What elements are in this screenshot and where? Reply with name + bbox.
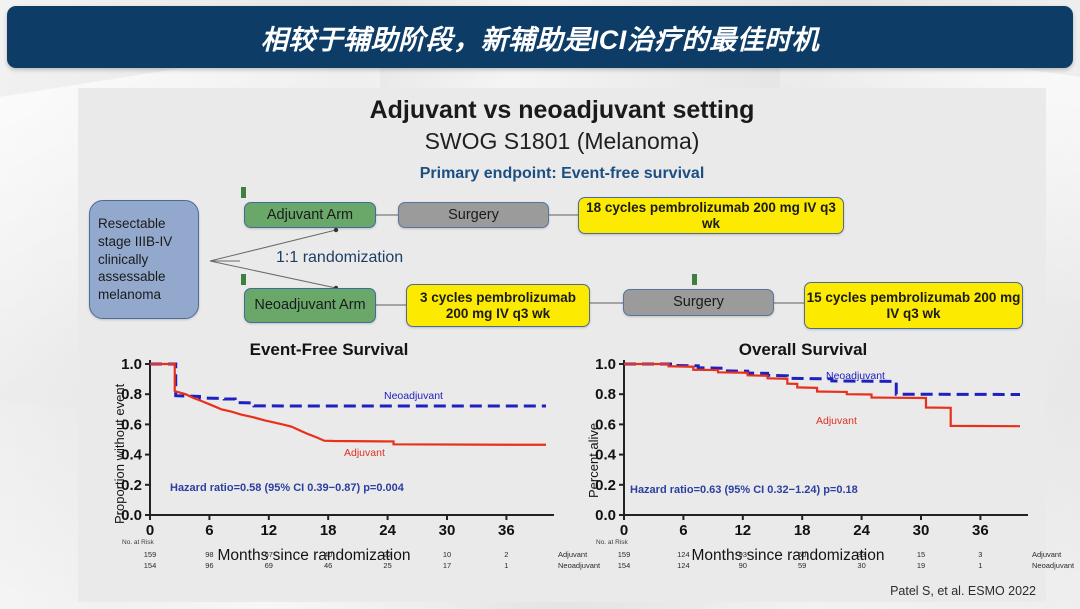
risk-table-cell: 22	[376, 550, 400, 559]
adjuvant-pembro-box: 18 cycles pembrolizumab 200 mg IV q3 wk	[578, 197, 844, 234]
figure-subtitle: SWOG S1801 (Melanoma)	[78, 128, 1046, 155]
svg-text:0.8: 0.8	[595, 386, 616, 403]
risk-table-cell: 69	[257, 561, 281, 570]
svg-text:0.0: 0.0	[595, 507, 616, 524]
primary-endpoint-label: Primary endpoint: Event-free survival	[78, 165, 1046, 183]
svg-text:6: 6	[679, 522, 687, 539]
curve-label-neoadjuvant: Neoadjuvant	[384, 390, 443, 402]
risk-table-cell: 67	[257, 550, 281, 559]
risk-table-cell: 60	[790, 550, 814, 559]
risk-table-cell: 19	[909, 561, 933, 570]
risk-table-cell: 90	[731, 561, 755, 570]
risk-table-cell: 30	[850, 561, 874, 570]
neoadjuvant-pembro-post-box: 15 cycles pembrolizumab 200 mg IV q3 wk	[804, 282, 1023, 329]
y-axis-label: Percent alive	[586, 423, 601, 498]
chart-event-free-survival: Event-Free Survival 0.00.20.40.60.81.006…	[94, 338, 564, 596]
risk-table-cell: 46	[316, 561, 340, 570]
page-title: 相较于辅助阶段，新辅助是ICI治疗的最佳时机	[261, 18, 820, 57]
timepoint-marker-icon	[241, 274, 246, 285]
hazard-ratio-annotation: Hazard ratio=0.63 (95% CI 0.32−1.24) p=0…	[630, 484, 858, 496]
curve-label-adjuvant: Adjuvant	[344, 447, 385, 459]
slide-title-banner: 相较于辅助阶段，新辅助是ICI治疗的最佳时机	[7, 6, 1073, 68]
svg-text:1.0: 1.0	[121, 356, 142, 373]
risk-table-cell: 15	[909, 550, 933, 559]
figure-title: Adjuvant vs neoadjuvant setting	[78, 96, 1046, 125]
content-card: Adjuvant vs neoadjuvant setting SWOG S18…	[78, 88, 1046, 602]
hazard-ratio-annotation: Hazard ratio=0.58 (95% CI 0.39−0.87) p=0…	[170, 482, 404, 494]
risk-table-title: No. at Risk	[122, 539, 154, 546]
trial-schema-diagram: Resectable stage IIIB-IV clinically asse…	[78, 194, 1046, 329]
svg-text:0: 0	[146, 522, 154, 539]
risk-table-cell: 159	[138, 550, 162, 559]
risk-table-cell: 1	[494, 561, 518, 570]
risk-table-cell: 154	[138, 561, 162, 570]
risk-table-cell: 154	[612, 561, 636, 570]
timepoint-marker-icon	[692, 274, 697, 285]
risk-table-cell: 98	[197, 550, 221, 559]
slide-canvas: 相较于辅助阶段，新辅助是ICI治疗的最佳时机 Adjuvant vs neoad…	[0, 0, 1080, 609]
risk-table-cell: 1	[968, 561, 992, 570]
svg-text:24: 24	[379, 522, 396, 539]
risk-table-cell: 93	[731, 550, 755, 559]
timepoint-marker-icon	[241, 187, 246, 198]
chart-plot-area: 0.00.20.40.60.81.0061218243036	[94, 338, 564, 553]
risk-table-cell: 124	[671, 550, 695, 559]
svg-text:18: 18	[320, 522, 337, 539]
risk-table-cell: 3	[968, 550, 992, 559]
risk-table-cell: 2	[494, 550, 518, 559]
y-axis-label: Proportion without event	[112, 384, 127, 524]
svg-text:30: 30	[913, 522, 930, 539]
risk-table-cell: 40	[316, 550, 340, 559]
risk-table-cell: 96	[197, 561, 221, 570]
risk-table-cell: 124	[671, 561, 695, 570]
neoadjuvant-arm-box: Neoadjuvant Arm	[244, 288, 376, 323]
risk-table-cell: 33	[850, 550, 874, 559]
risk-table-cell: 59	[790, 561, 814, 570]
risk-table-row-label: Neoadjuvant	[1032, 561, 1074, 570]
svg-text:36: 36	[498, 522, 515, 539]
eligibility-box: Resectable stage IIIB-IV clinically asse…	[89, 200, 199, 319]
risk-table-row-label: Adjuvant	[1032, 550, 1061, 559]
svg-text:36: 36	[972, 522, 989, 539]
randomization-label: 1:1 randomization	[276, 249, 403, 267]
risk-table-cell: 159	[612, 550, 636, 559]
curve-label-neoadjuvant: Neoadjuvant	[826, 370, 885, 382]
citation: Patel S, et al. ESMO 2022	[890, 584, 1036, 598]
adjuvant-arm-box: Adjuvant Arm	[244, 202, 376, 228]
svg-text:12: 12	[734, 522, 751, 539]
svg-text:1.0: 1.0	[595, 356, 616, 373]
risk-table-cell: 10	[435, 550, 459, 559]
svg-text:0: 0	[620, 522, 628, 539]
curve-label-adjuvant: Adjuvant	[816, 415, 857, 427]
risk-table-cell: 25	[376, 561, 400, 570]
svg-text:24: 24	[853, 522, 870, 539]
svg-text:18: 18	[794, 522, 811, 539]
neoadjuvant-surgery-box: Surgery	[623, 289, 774, 316]
chart-overall-survival: Overall Survival 0.00.20.40.60.81.006121…	[568, 338, 1038, 596]
chart-plot-area: 0.00.20.40.60.81.0061218243036	[568, 338, 1038, 553]
risk-table-title: No. at Risk	[596, 539, 628, 546]
svg-text:30: 30	[439, 522, 456, 539]
svg-text:6: 6	[205, 522, 213, 539]
neoadjuvant-pembro-pre-box: 3 cycles pembrolizumab 200 mg IV q3 wk	[406, 284, 590, 327]
svg-text:12: 12	[260, 522, 277, 539]
adjuvant-surgery-box: Surgery	[398, 202, 549, 228]
risk-table-cell: 17	[435, 561, 459, 570]
